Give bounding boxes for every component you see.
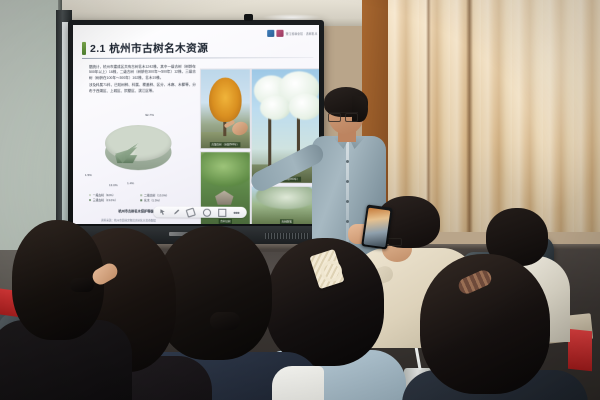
pie-legend: 一般古树（92%） 二级古树（13.0%） 三级古树（13.0%） 名 <box>89 193 194 203</box>
display-screen[interactable]: 浙江省林业局 · 古树名木 2.1 杭州市古树名木资源 据统计，杭州市建成区共有… <box>73 25 319 224</box>
photo-caption: 古银杏树 （树龄500年） <box>210 143 241 147</box>
photo-caption: 古树群落 <box>280 220 293 224</box>
slide-body-text: 据统计，杭州市建成区共有古树名木1242株，其中一级古树（树龄在500年以上）1… <box>89 65 196 97</box>
slide-logo-text: 浙江省林业局 · 古树名木 <box>286 31 318 35</box>
circle-icon[interactable] <box>203 208 211 216</box>
curtain-daylight-glow <box>470 0 600 232</box>
photo-blossom <box>289 94 319 120</box>
slide-paragraph-2: 涉及科属71科，已知树种、科属、覆盖种、区分、木麻、木樨等，分布于西湖区、上城区… <box>89 83 196 94</box>
photo-caption: 古树公园 <box>219 219 232 223</box>
legend-item: 名木（1.5%） <box>140 198 189 202</box>
eraser-icon[interactable] <box>186 207 196 217</box>
interactive-display[interactable]: 浙江省林业局 · 古树名木 2.1 杭州市古树名木资源 据统计，杭州市建成区共有… <box>68 20 324 250</box>
shirt-button <box>346 160 349 163</box>
shirt-button <box>346 200 349 203</box>
attendee-inner-shirt <box>272 366 324 400</box>
hair-tie <box>210 312 240 330</box>
photo-canopy <box>209 78 242 122</box>
camphor-grove-photo: 古树群落 <box>251 186 319 224</box>
slide-footer-note: 资料来源：杭州市园林文物局古树名木普查数据 <box>101 218 156 222</box>
square-icon[interactable] <box>218 208 226 216</box>
pie-label-minor-a: 1.5% <box>85 173 92 177</box>
legend-swatch-icon <box>140 194 142 196</box>
photo-canopy <box>200 151 251 186</box>
presentation-slide[interactable]: 浙江省林业局 · 古树名木 2.1 杭州市古树名木资源 据统计，杭州市建成区共有… <box>73 25 319 224</box>
legend-label: 三级古树（13.0%） <box>93 198 118 202</box>
more-icon[interactable] <box>234 209 240 215</box>
title-accent-bar <box>82 42 86 55</box>
conference-room-scene: 浙江省林业局 · 古树名木 2.1 杭州市古树名木资源 据统计，杭州市建成区共有… <box>0 0 600 400</box>
phone-screen <box>364 207 391 247</box>
name-card-red <box>568 329 592 372</box>
slide-paragraph-1: 据统计，杭州市建成区共有古树名木1242株，其中一级古树（树龄在500年以上）1… <box>89 65 196 82</box>
legend-item: 二级古树（13.0%） <box>140 193 189 197</box>
curtain-fold <box>426 0 431 232</box>
photo-blossom <box>260 96 291 120</box>
pie-chart-body <box>105 125 171 169</box>
legend-label: 二级古树（13.0%） <box>144 193 169 197</box>
display-camera-icon <box>244 14 253 21</box>
pie-chart: 92.7% 1.5% 13.0% 1.4% 一般古树（92%） 二级古树（13.… <box>83 111 196 220</box>
display-speaker-grille <box>265 233 309 239</box>
legend-label: 一般古树（92%） <box>93 193 115 197</box>
shirt-button <box>346 180 349 183</box>
legend-swatch-icon <box>89 199 91 201</box>
legend-label: 名木（1.5%） <box>144 198 162 202</box>
slide-logo: 浙江省林业局 · 古树名木 <box>267 30 317 37</box>
pen-icon[interactable] <box>174 209 180 215</box>
legend-swatch-icon <box>89 194 91 196</box>
pie-label-minor-b: 13.0% <box>109 183 118 187</box>
logo-mark-icon <box>267 30 274 37</box>
ginkgo-tree-photo: 古银杏树 （树龄500年） <box>200 68 251 149</box>
slide-title: 2.1 杭州市古树名木资源 <box>90 40 208 56</box>
hair-tie <box>70 278 94 292</box>
cursor-icon[interactable] <box>160 209 166 215</box>
legend-swatch-icon <box>140 199 142 201</box>
title-divider <box>82 57 313 59</box>
logo-mark-secondary-icon <box>277 30 284 37</box>
pie-label-major: 92.7% <box>145 113 154 117</box>
shirt-button <box>346 220 349 223</box>
glasses-icon <box>328 112 358 120</box>
pie-surface <box>105 125 171 161</box>
legend-item: 三级古树（13.0%） <box>89 198 137 202</box>
photo-pavilion <box>215 191 233 205</box>
pie-label-minor-c: 1.4% <box>127 181 134 185</box>
annotation-toolbar[interactable] <box>153 206 246 218</box>
legend-item: 一般古树（92%） <box>89 193 137 197</box>
